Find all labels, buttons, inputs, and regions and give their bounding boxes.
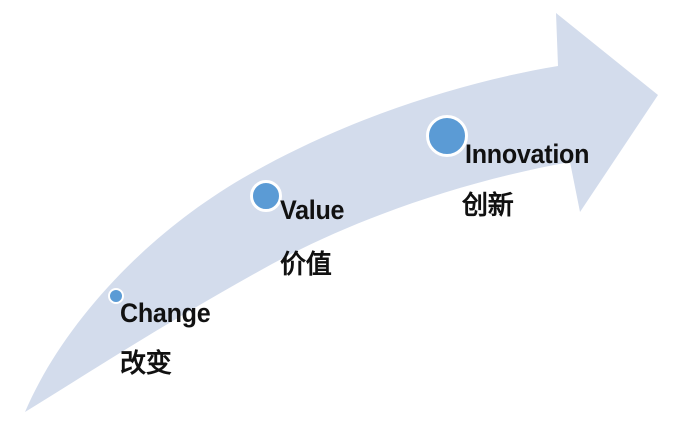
stage-label-change-zh: 改变 bbox=[120, 351, 171, 377]
stage-label-change-en: Change bbox=[120, 300, 210, 327]
milestone-marker-value bbox=[250, 180, 282, 212]
milestone-marker-innovation bbox=[426, 115, 468, 157]
stage-label-innovation-zh: 创新 bbox=[462, 193, 513, 219]
growth-arrow-diagram: Change 改变 Value 价值 Innovation 创新 bbox=[0, 0, 675, 434]
stage-label-value-zh: 价值 bbox=[280, 252, 331, 278]
stage-label-value-en: Value bbox=[280, 197, 344, 224]
stage-label-innovation-en: Innovation bbox=[465, 141, 589, 168]
